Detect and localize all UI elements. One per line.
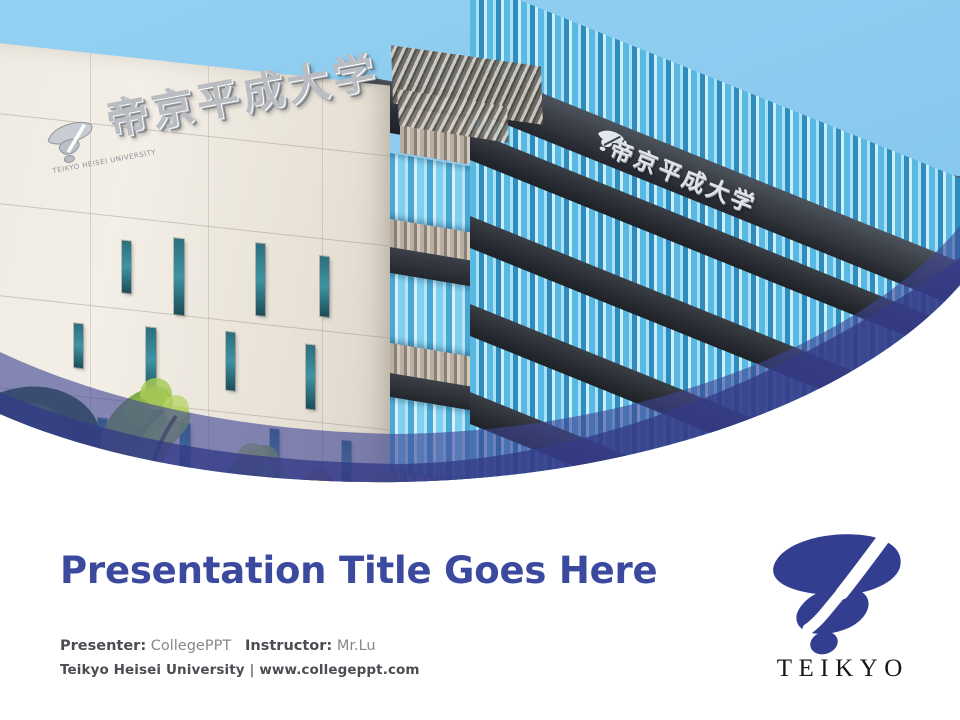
presenter-line: Presenter: CollegePPT Instructor: Mr.Lu [60,634,420,658]
presentation-title-slide: 帝京平成大学 TEIKYO HEISEI UNIVERSITY 帝京平成大学 [0,0,960,720]
organization-line: Teikyo Heisei University | www.collegepp… [60,658,420,682]
hero-photo: 帝京平成大学 TEIKYO HEISEI UNIVERSITY 帝京平成大学 [0,0,960,500]
instructor-label: Instructor: [245,638,332,654]
instructor-value: Mr.Lu [337,638,376,654]
organization-name: Teikyo Heisei University [60,662,245,678]
meta-separator: | [250,662,255,678]
teikyo-swoosh-logo-icon [762,527,917,657]
presenter-meta: Presenter: CollegePPT Instructor: Mr.Lu … [60,634,420,682]
presenter-label: Presenter: [60,638,146,654]
presenter-value: CollegePPT [151,638,231,654]
teikyo-wordmark: TEIKYO [762,655,917,683]
teikyo-logo: TEIKYO [762,527,917,697]
page-title: Presentation Title Goes Here [60,549,657,592]
website-link[interactable]: www.collegeppt.com [259,662,419,678]
